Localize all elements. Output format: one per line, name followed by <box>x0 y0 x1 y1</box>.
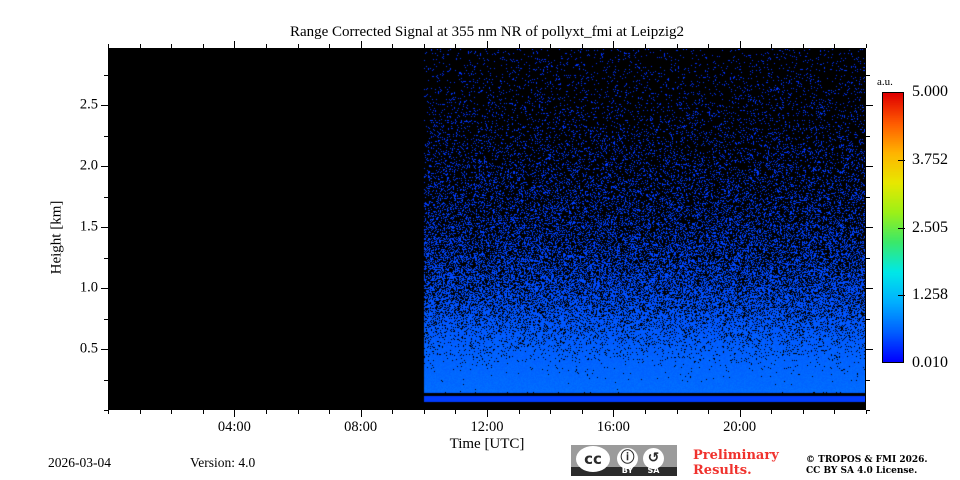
plot-axes <box>108 48 866 410</box>
y-major-tick-right <box>866 166 873 167</box>
y-major-tick <box>101 166 108 167</box>
x-minor-tick <box>424 410 425 414</box>
y-minor-tick-right <box>866 75 870 76</box>
y-minor-tick <box>104 258 108 259</box>
x-minor-tick <box>392 410 393 414</box>
colorbar-unit-label: a.u. <box>877 76 893 88</box>
x-minor-tick <box>582 410 583 414</box>
x-minor-tick-top <box>803 44 804 48</box>
x-minor-tick-top <box>108 44 109 48</box>
y-minor-tick <box>104 380 108 381</box>
x-minor-tick-top <box>392 44 393 48</box>
x-tick-label: 16:00 <box>597 419 630 436</box>
y-minor-tick-right <box>866 380 870 381</box>
x-minor-tick-top <box>771 44 772 48</box>
y-axis-label: Height [km] <box>49 148 66 328</box>
x-major-tick-top <box>487 41 488 48</box>
y-major-tick <box>101 105 108 106</box>
x-minor-tick-top <box>266 44 267 48</box>
copyright-note: © TROPOS & FMI 2026. CC BY SA 4.0 Licens… <box>806 455 956 477</box>
y-minor-tick-right <box>866 258 870 259</box>
colorbar-tick-label: 1.258 <box>912 286 948 304</box>
x-major-tick <box>740 410 741 417</box>
x-minor-tick <box>519 410 520 414</box>
x-minor-tick-top <box>171 44 172 48</box>
colorbar-tick-label: 0.010 <box>912 354 948 372</box>
x-major-tick <box>361 410 362 417</box>
x-minor-tick-top <box>298 44 299 48</box>
x-tick-label: 12:00 <box>470 419 503 436</box>
x-minor-tick <box>171 410 172 414</box>
lidar-quicklook-figure: Range Corrected Signal at 355 nm NR of p… <box>0 0 960 480</box>
colorbar-tick <box>898 228 905 229</box>
y-major-tick-right <box>866 288 873 289</box>
x-minor-tick-top <box>519 44 520 48</box>
x-minor-tick <box>834 410 835 414</box>
x-tick-label: 08:00 <box>344 419 377 436</box>
y-tick-label: 2.5 <box>54 97 98 114</box>
y-major-tick-right <box>866 349 873 350</box>
x-minor-tick-top <box>677 44 678 48</box>
y-major-tick <box>101 227 108 228</box>
x-minor-tick-top <box>645 44 646 48</box>
x-minor-tick <box>329 410 330 414</box>
y-minor-tick <box>104 197 108 198</box>
y-tick-label: 0.5 <box>54 341 98 358</box>
x-major-tick <box>613 410 614 417</box>
y-minor-tick-right <box>866 197 870 198</box>
x-minor-tick-top <box>329 44 330 48</box>
x-minor-tick-top <box>424 44 425 48</box>
x-major-tick <box>234 410 235 417</box>
x-minor-tick-top <box>203 44 204 48</box>
x-minor-tick <box>298 410 299 414</box>
colorbar-tick <box>898 160 905 161</box>
y-minor-tick <box>104 75 108 76</box>
y-minor-tick <box>104 410 108 411</box>
creative-commons-icon: cc <box>576 446 610 472</box>
x-minor-tick-top <box>455 44 456 48</box>
colorbar-tick-label: 5.000 <box>912 83 948 101</box>
y-major-tick <box>101 288 108 289</box>
x-tick-label: 20:00 <box>723 419 756 436</box>
footer-date: 2026-03-04 <box>48 455 111 471</box>
y-major-tick <box>101 349 108 350</box>
x-major-tick-top <box>613 41 614 48</box>
x-major-tick-top <box>740 41 741 48</box>
y-minor-tick-right <box>866 410 870 411</box>
x-minor-tick-top <box>834 44 835 48</box>
colorbar-tick <box>898 295 905 296</box>
copyright-line-1: © TROPOS & FMI 2026. <box>806 455 956 466</box>
x-minor-tick <box>771 410 772 414</box>
y-minor-tick-right <box>866 319 870 320</box>
x-tick-label: 04:00 <box>218 419 251 436</box>
x-minor-tick-top <box>708 44 709 48</box>
y-minor-tick-right <box>866 136 870 137</box>
x-minor-tick <box>108 410 109 414</box>
x-minor-tick <box>203 410 204 414</box>
x-minor-tick <box>550 410 551 414</box>
x-minor-tick <box>803 410 804 414</box>
preliminary-line-1: Preliminary <box>693 448 803 463</box>
cc-sa-label: SA <box>641 466 666 475</box>
x-minor-tick-top <box>140 44 141 48</box>
page-title: Range Corrected Signal at 355 nm NR of p… <box>108 24 866 41</box>
x-minor-tick <box>455 410 456 414</box>
cc-license-badge-icon[interactable]: cc ⓘ ↺ BY SA <box>571 445 677 476</box>
x-minor-tick-top <box>550 44 551 48</box>
x-major-tick-top <box>234 41 235 48</box>
cc-by-label: BY <box>615 466 640 475</box>
colorbar-tick-label: 2.505 <box>912 219 948 237</box>
y-minor-tick <box>104 136 108 137</box>
heatmap-canvas <box>109 49 865 409</box>
x-minor-tick <box>677 410 678 414</box>
colorbar-tick-label: 3.752 <box>912 151 948 169</box>
x-major-tick <box>487 410 488 417</box>
y-major-tick-right <box>866 105 873 106</box>
x-minor-tick <box>266 410 267 414</box>
footer-version: Version: 4.0 <box>190 455 255 471</box>
y-major-tick-right <box>866 227 873 228</box>
x-minor-tick <box>140 410 141 414</box>
x-minor-tick-top <box>866 44 867 48</box>
y-minor-tick <box>104 319 108 320</box>
copyright-line-2: CC BY SA 4.0 License. <box>806 466 956 477</box>
x-major-tick-top <box>361 41 362 48</box>
x-minor-tick <box>645 410 646 414</box>
preliminary-line-2: Results. <box>693 463 803 478</box>
preliminary-results-note: Preliminary Results. <box>693 448 803 478</box>
x-minor-tick-top <box>582 44 583 48</box>
x-minor-tick <box>708 410 709 414</box>
